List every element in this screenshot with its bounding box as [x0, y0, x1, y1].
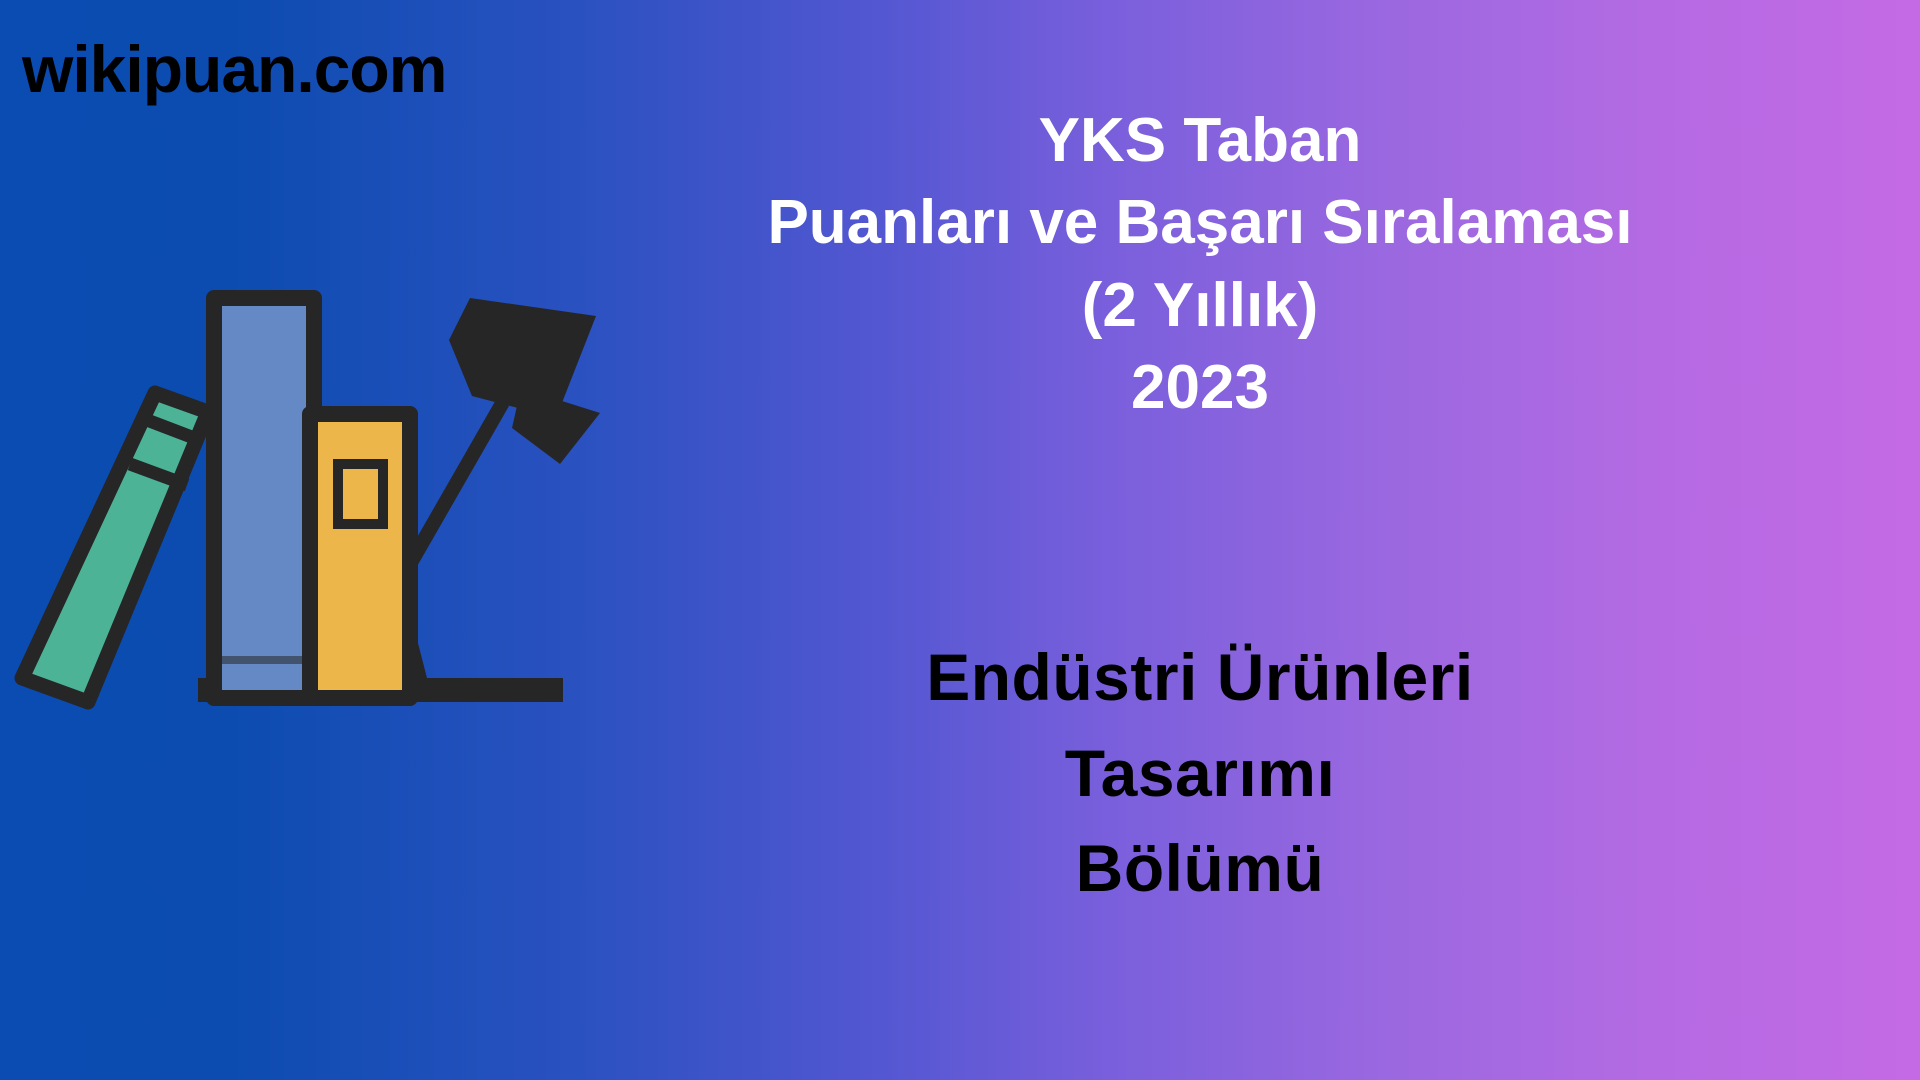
title-line-2: Puanları ve Başarı Sıralaması: [600, 182, 1800, 264]
teal-book-shape: [22, 393, 208, 702]
books-and-lamp-illustration: [0, 278, 620, 738]
poster-canvas: wikipuan.com YKS T: [0, 0, 1920, 1080]
blue-book-foot-stripe: [214, 656, 314, 664]
title-line-3: (2 Yıllık): [600, 265, 1800, 347]
site-watermark: wikipuan.com: [22, 36, 446, 102]
title-line-4: 2023: [600, 347, 1800, 429]
department-line-3: Bölümü: [600, 821, 1800, 917]
blue-book-shape: [214, 298, 314, 698]
yellow-book-label-shape: [338, 464, 383, 524]
title-line-1: YKS Taban: [600, 100, 1800, 182]
department-name-block: Endüstri Ürünleri Tasarımı Bölümü: [600, 630, 1800, 917]
department-line-1: Endüstri Ürünleri: [600, 630, 1800, 726]
lamp-shade-lip-shape: [512, 388, 600, 464]
yellow-book-shape: [310, 414, 410, 698]
books-lamp-svg: [0, 278, 620, 738]
department-line-2: Tasarımı: [600, 726, 1800, 822]
poster-title-block: YKS Taban Puanları ve Başarı Sıralaması …: [600, 100, 1800, 430]
